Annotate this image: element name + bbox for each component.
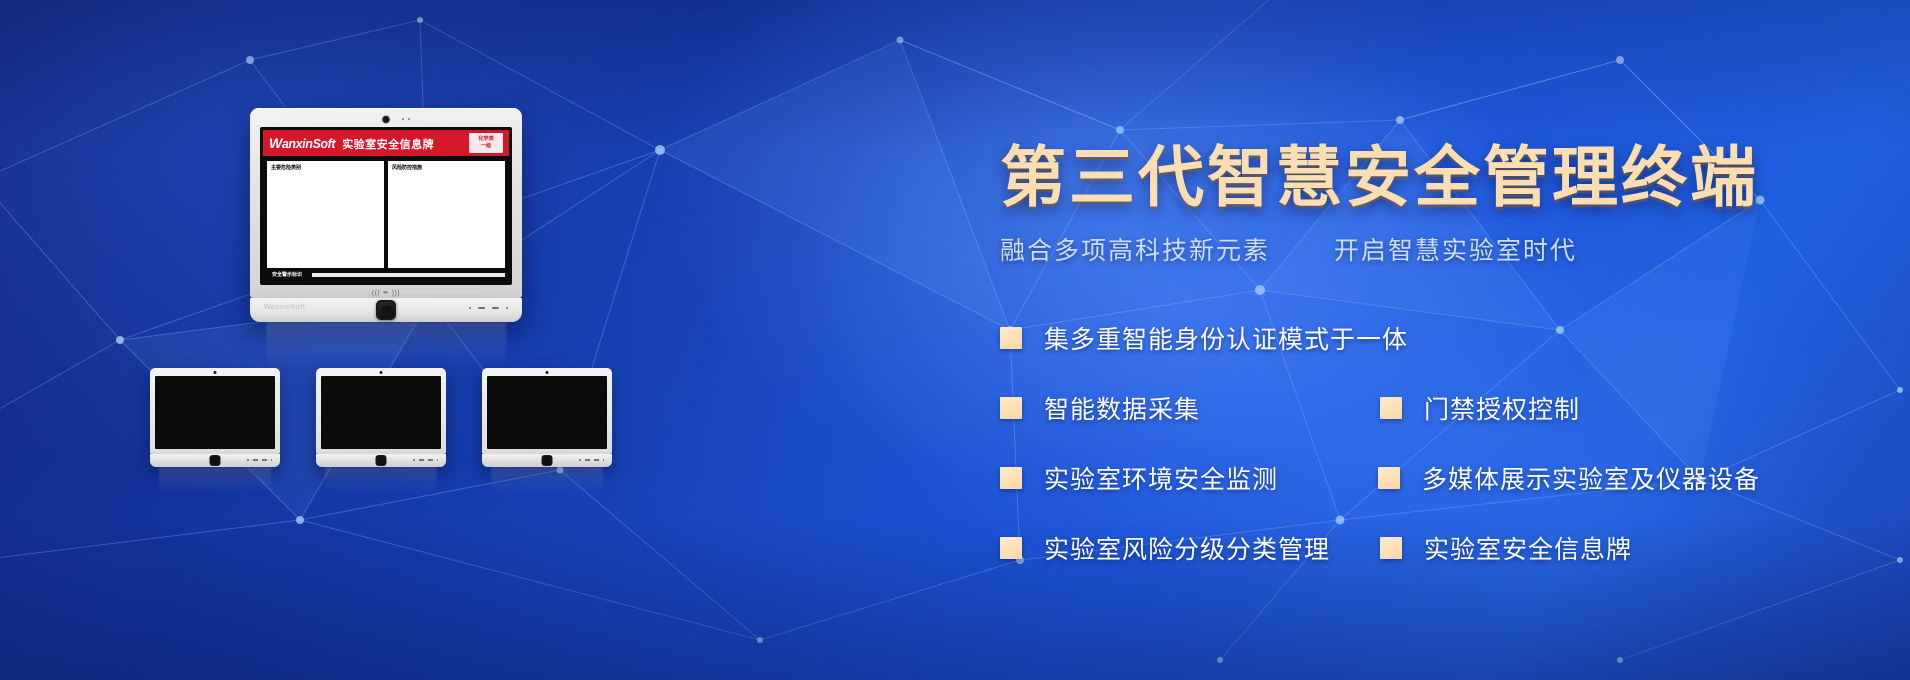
square-bullet-icon [1000, 467, 1022, 489]
feature-item[interactable]: 实验室风险分级分类管理 [1000, 530, 1380, 566]
feature-label: 实验室安全信息牌 [1424, 530, 1632, 566]
feature-row: 实验室环境安全监测多媒体展示实验室及仪器设备 [1000, 460, 1760, 530]
feature-label: 智能数据采集 [1044, 390, 1200, 426]
feature-row: 实验室风险分级分类管理实验室安全信息牌 [1000, 530, 1760, 600]
feature-item[interactable]: 实验室安全信息牌 [1380, 530, 1632, 566]
feature-label: 多媒体展示实验室及仪器设备 [1422, 460, 1760, 496]
marketing-copy-column: 第三代智慧安全管理终端 融合多项高科技新元素 开启智慧实验室时代 集多重智能身份… [0, 0, 1910, 680]
feature-item[interactable]: 多媒体展示实验室及仪器设备 [1378, 460, 1760, 496]
feature-item[interactable]: 智能数据采集 [1000, 390, 1380, 426]
square-bullet-icon [1000, 537, 1022, 559]
feature-item[interactable]: 集多重智能身份认证模式于一体 [1000, 320, 1380, 356]
page-subtitle: 融合多项高科技新元素 开启智慧实验室时代 [1000, 231, 1577, 267]
page-title: 第三代智慧安全管理终端 [1000, 124, 1759, 220]
feature-list: 集多重智能身份认证模式于一体智能数据采集门禁授权控制实验室环境安全监测多媒体展示… [1000, 320, 1760, 600]
feature-label: 集多重智能身份认证模式于一体 [1044, 320, 1408, 356]
feature-item[interactable]: 实验室环境安全监测 [1000, 460, 1378, 496]
feature-row: 集多重智能身份认证模式于一体 [1000, 320, 1760, 390]
square-bullet-icon [1000, 397, 1022, 419]
feature-label: 实验室环境安全监测 [1044, 460, 1278, 496]
feature-item[interactable]: 门禁授权控制 [1380, 390, 1580, 426]
square-bullet-icon [1000, 327, 1022, 349]
subtitle-left: 融合多项高科技新元素 [1000, 237, 1270, 265]
square-bullet-icon [1380, 537, 1402, 559]
promo-banner: WanxinSoft 实验室安全信息牌 化学类 一级 主要危险类别 [0, 0, 1910, 680]
feature-label: 门禁授权控制 [1424, 390, 1580, 426]
feature-row: 智能数据采集门禁授权控制 [1000, 390, 1760, 460]
square-bullet-icon [1378, 467, 1400, 489]
square-bullet-icon [1380, 397, 1402, 419]
subtitle-right: 开启智慧实验室时代 [1334, 237, 1577, 265]
feature-label: 实验室风险分级分类管理 [1044, 530, 1330, 566]
